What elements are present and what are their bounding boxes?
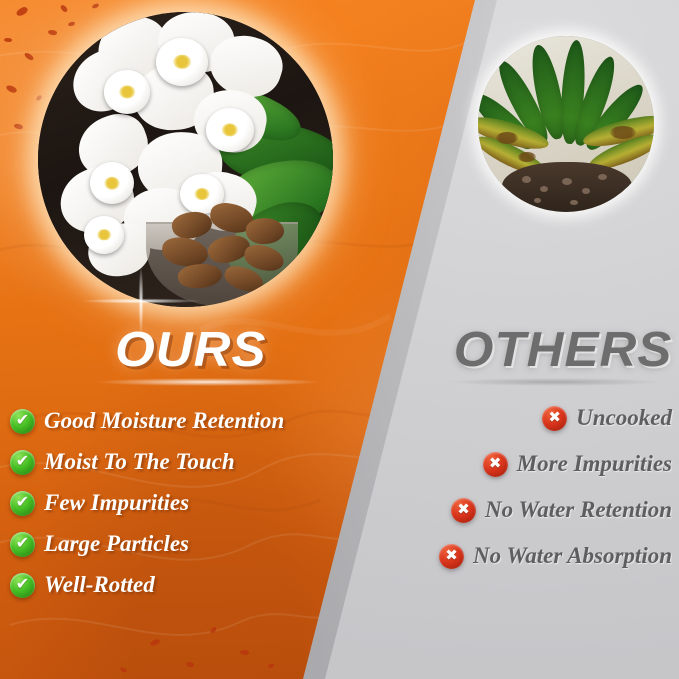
list-item: ✔ Good Moisture Retention xyxy=(10,408,370,434)
list-item-label: Moist To The Touch xyxy=(44,449,235,475)
check-icon: ✔ xyxy=(10,450,35,475)
list-item-label: Large Particles xyxy=(44,531,189,557)
cross-glyph: ✖ xyxy=(548,410,561,425)
list-item-label: Uncooked xyxy=(576,405,672,431)
cross-icon: ✖ xyxy=(542,406,567,431)
list-item: ✔ Few Impurities xyxy=(10,490,370,516)
list-item: ✔ Large Particles xyxy=(10,531,370,557)
check-glyph: ✔ xyxy=(16,494,29,510)
list-item: ✖ Uncooked xyxy=(350,405,672,431)
list-item: ✖ No Water Absorption xyxy=(350,543,672,569)
list-item: ✖ More Impurities xyxy=(350,451,672,477)
check-glyph: ✔ xyxy=(16,576,29,592)
list-item-label: No Water Retention xyxy=(485,497,672,523)
check-icon: ✔ xyxy=(10,532,35,557)
cross-glyph: ✖ xyxy=(445,548,458,563)
list-item: ✔ Well-Rotted xyxy=(10,572,370,598)
check-glyph: ✔ xyxy=(16,453,29,469)
ours-product-photo xyxy=(38,12,333,307)
cross-glyph: ✖ xyxy=(489,456,502,471)
check-icon: ✔ xyxy=(10,573,35,598)
check-glyph: ✔ xyxy=(16,535,29,551)
list-item-label: Well-Rotted xyxy=(44,572,155,598)
list-item-label: No Water Absorption xyxy=(473,543,672,569)
check-icon: ✔ xyxy=(10,491,35,516)
cross-icon: ✖ xyxy=(483,452,508,477)
list-item-label: Good Moisture Retention xyxy=(44,408,284,434)
others-product-photo xyxy=(478,36,654,212)
ours-heading: OURS xyxy=(115,322,266,378)
list-item-label: Few Impurities xyxy=(44,490,189,516)
ours-feature-list: ✔ Good Moisture Retention ✔ Moist To The… xyxy=(10,408,370,613)
list-item: ✖ No Water Retention xyxy=(350,497,672,523)
list-item: ✔ Moist To The Touch xyxy=(10,449,370,475)
others-heading: OTHERS xyxy=(454,322,673,378)
cross-glyph: ✖ xyxy=(457,502,470,517)
comparison-infographic: OURS OTHERS ✔ Good Moisture Retention ✔ … xyxy=(0,0,679,679)
others-feature-list: ✖ Uncooked ✖ More Impurities ✖ No Water … xyxy=(350,405,672,589)
check-glyph: ✔ xyxy=(16,412,29,428)
cross-icon: ✖ xyxy=(451,498,476,523)
cross-icon: ✖ xyxy=(439,544,464,569)
list-item-label: More Impurities xyxy=(517,451,672,477)
check-icon: ✔ xyxy=(10,409,35,434)
